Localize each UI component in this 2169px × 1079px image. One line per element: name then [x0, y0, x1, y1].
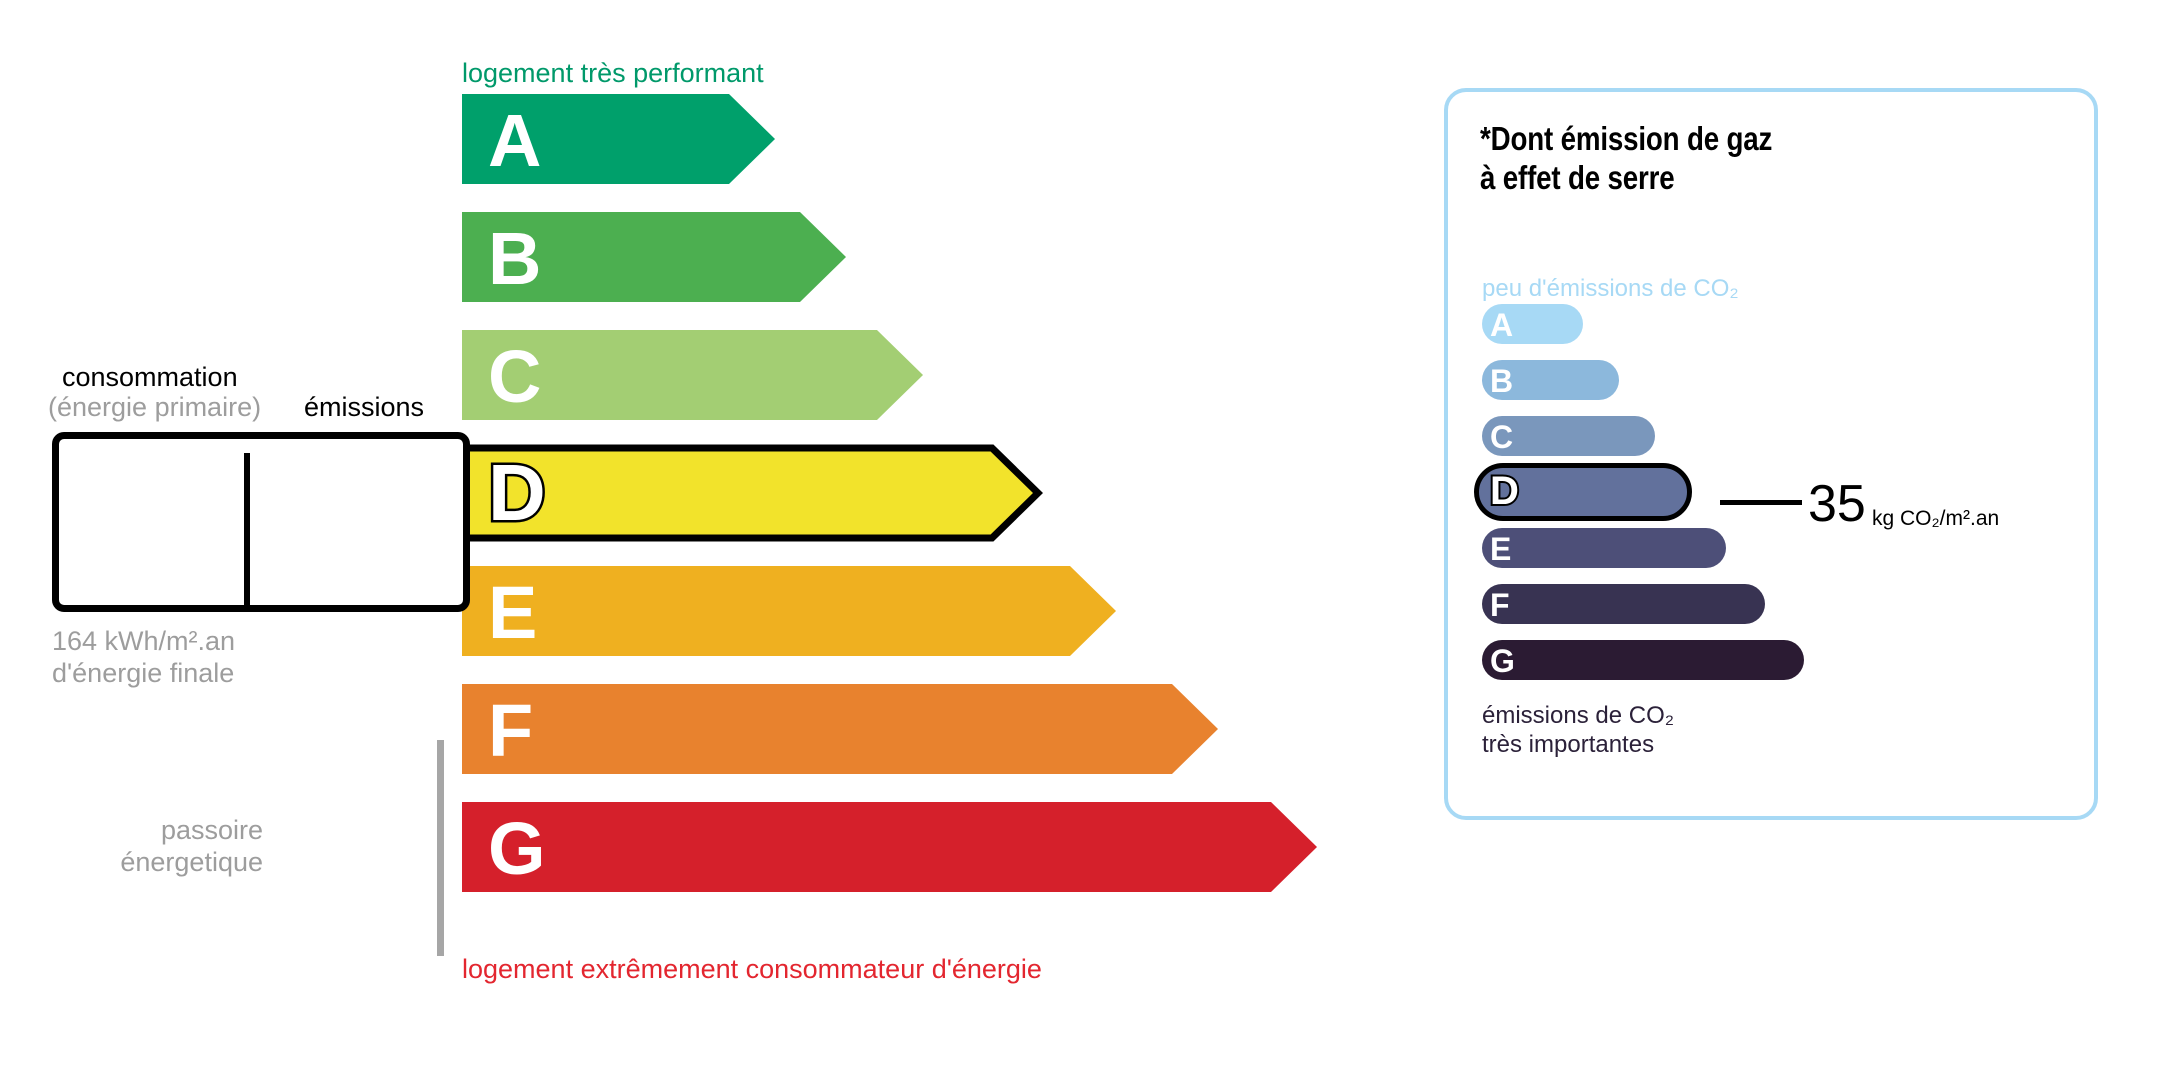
consumption-heading-line2: (énergie primaire)	[48, 392, 261, 422]
scale-top-label: logement très performant	[462, 58, 764, 89]
co2-bar-g	[1482, 640, 1804, 680]
co2-bottom-label: émissions de CO₂ très importantes	[1482, 702, 1674, 760]
energy-bar-letter-c: C	[488, 340, 541, 414]
passoire-label-line2: énergetique	[120, 847, 263, 879]
consumption-divider	[244, 453, 250, 605]
final-energy-line2: d'énergie finale	[52, 658, 234, 690]
dpe-diagram: logement très performant ABCDEFG logemen…	[0, 0, 2169, 1079]
co2-panel-title: *Dont émission de gaz à effet de serre	[1480, 120, 1772, 198]
co2-bar-letter-g: G	[1490, 645, 1515, 677]
energy-bar-g	[462, 802, 1317, 892]
co2-panel-unit: kg CO₂/m².an	[1872, 508, 1999, 529]
co2-leader-line	[1720, 500, 1802, 505]
co2-bar-letter-d: D	[1490, 471, 1519, 511]
energy-bar-f	[462, 684, 1218, 774]
energy-bar-letter-g: G	[488, 812, 546, 886]
energy-bar-letter-b: B	[488, 222, 541, 296]
final-energy-line1: 164 kWh/m².an	[52, 626, 235, 658]
consumption-box	[52, 432, 470, 612]
co2-bar-letter-c: C	[1490, 421, 1513, 453]
co2-bar-letter-b: B	[1490, 365, 1513, 397]
energy-bar-letter-d: D	[488, 453, 546, 533]
co2-bar-letter-a: A	[1490, 309, 1513, 341]
co2-bar-letter-f: F	[1490, 589, 1510, 621]
co2-top-label: peu d'émissions de CO₂	[1482, 275, 1739, 303]
co2-bar-e	[1482, 528, 1726, 568]
scale-bottom-label: logement extrêmement consommateur d'éner…	[462, 954, 1042, 985]
co2-bar-letter-e: E	[1490, 533, 1511, 565]
co2-panel-value: 35	[1808, 478, 1866, 530]
consumption-heading-line1: consommation	[62, 362, 238, 392]
passoire-label-line1: passoire	[161, 815, 263, 847]
energy-bar-letter-f: F	[488, 694, 533, 768]
energy-bar-letter-a: A	[488, 104, 541, 178]
energy-bar-letter-e: E	[488, 576, 537, 650]
emissions-heading: émissions	[304, 392, 424, 422]
passoire-bracket	[437, 740, 444, 956]
energy-bar-e	[462, 566, 1116, 656]
co2-bar-f	[1482, 584, 1765, 624]
